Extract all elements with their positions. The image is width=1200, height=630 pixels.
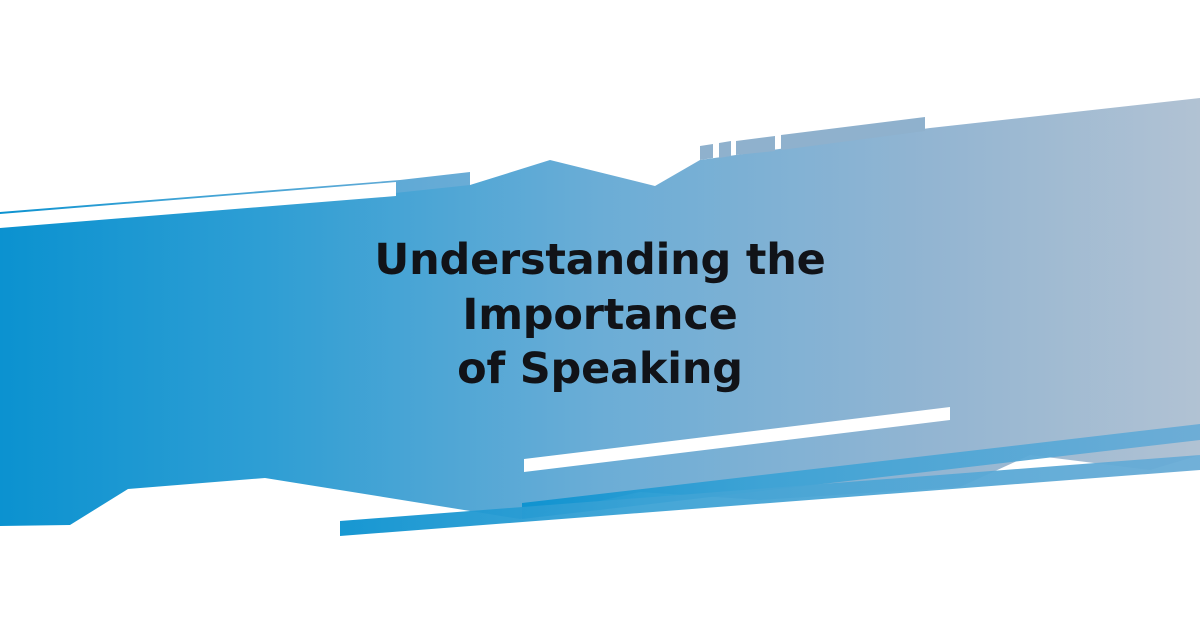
banner-card: Understanding the Importance of Speaking bbox=[0, 0, 1200, 630]
dash-small-2-icon bbox=[719, 141, 731, 158]
main-blue-shape-group bbox=[0, 0, 1200, 630]
banner-decorative-artwork bbox=[0, 0, 1200, 630]
dash-small-1-icon bbox=[700, 144, 713, 160]
main-blue-shape bbox=[0, 0, 1200, 630]
